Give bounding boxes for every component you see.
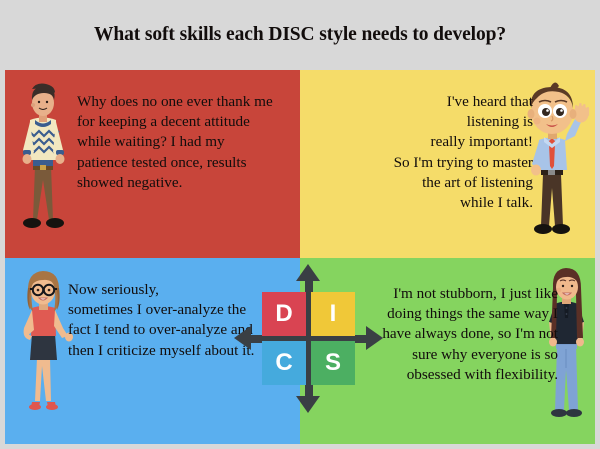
disc-model-badge[interactable]: D I C S	[262, 292, 355, 385]
disc-letter-s: S	[325, 351, 341, 375]
arrow-head-left-icon	[234, 326, 251, 350]
quadrant-quote-steadiness: I'm not stubborn, I just like doing thin…	[358, 284, 558, 385]
quadrant-dominance[interactable]: Why does no one ever thank me for keepin…	[5, 70, 300, 258]
four-way-arrow-icon	[234, 264, 383, 413]
disc-letter-d: D	[275, 302, 292, 326]
character-man-in-cream-sweater	[13, 80, 73, 240]
disc-infographic: What soft skills each DISC style needs t…	[0, 0, 600, 449]
disc-cell-s[interactable]: S	[311, 341, 355, 385]
arrow-head-down-icon	[296, 396, 320, 413]
quadrant-influence[interactable]: I've heard that listening is really impo…	[300, 70, 595, 258]
disc-cell-c[interactable]: C	[262, 341, 306, 385]
quadrant-quote-dominance: Why does no one ever thank me for keepin…	[77, 92, 273, 193]
quadrant-grid: Why does no one ever thank me for keepin…	[5, 70, 595, 444]
arrow-head-right-icon	[366, 326, 383, 350]
disc-cell-d[interactable]: D	[262, 292, 306, 336]
disc-letter-c: C	[275, 351, 292, 375]
disc-letter-i: I	[330, 302, 337, 326]
character-woman-with-glasses	[13, 266, 75, 426]
page-title: What soft skills each DISC style needs t…	[0, 0, 600, 70]
arrow-head-up-icon	[296, 264, 320, 281]
quadrant-quote-influence: I've heard that listening is really impo…	[328, 92, 533, 213]
disc-cell-i[interactable]: I	[311, 292, 355, 336]
